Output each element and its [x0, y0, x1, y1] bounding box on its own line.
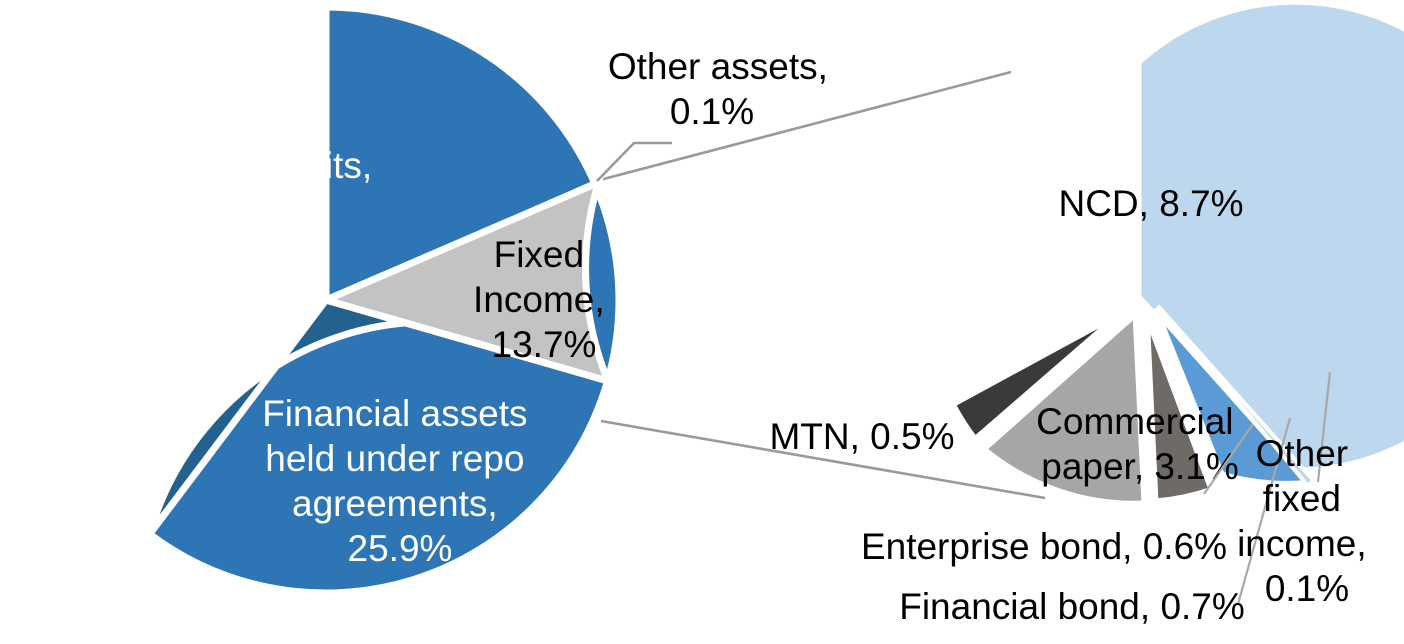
label-financial-bond: Financial bond, 0.7% — [899, 586, 1245, 627]
label-mtn: MTN, 0.5% — [769, 416, 954, 457]
label-fixed-income: Fixed Income, 13.7% — [473, 234, 615, 365]
pie-of-pie-chart: Bank deposits, 60.3% Fixed Income, 13.7%… — [0, 0, 1404, 644]
label-ncd: NCD, 8.7% — [1058, 183, 1243, 224]
label-enterprise-bond: Enterprise bond, 0.6% — [861, 526, 1227, 567]
chart-canvas: Bank deposits, 60.3% Fixed Income, 13.7%… — [0, 0, 1404, 644]
